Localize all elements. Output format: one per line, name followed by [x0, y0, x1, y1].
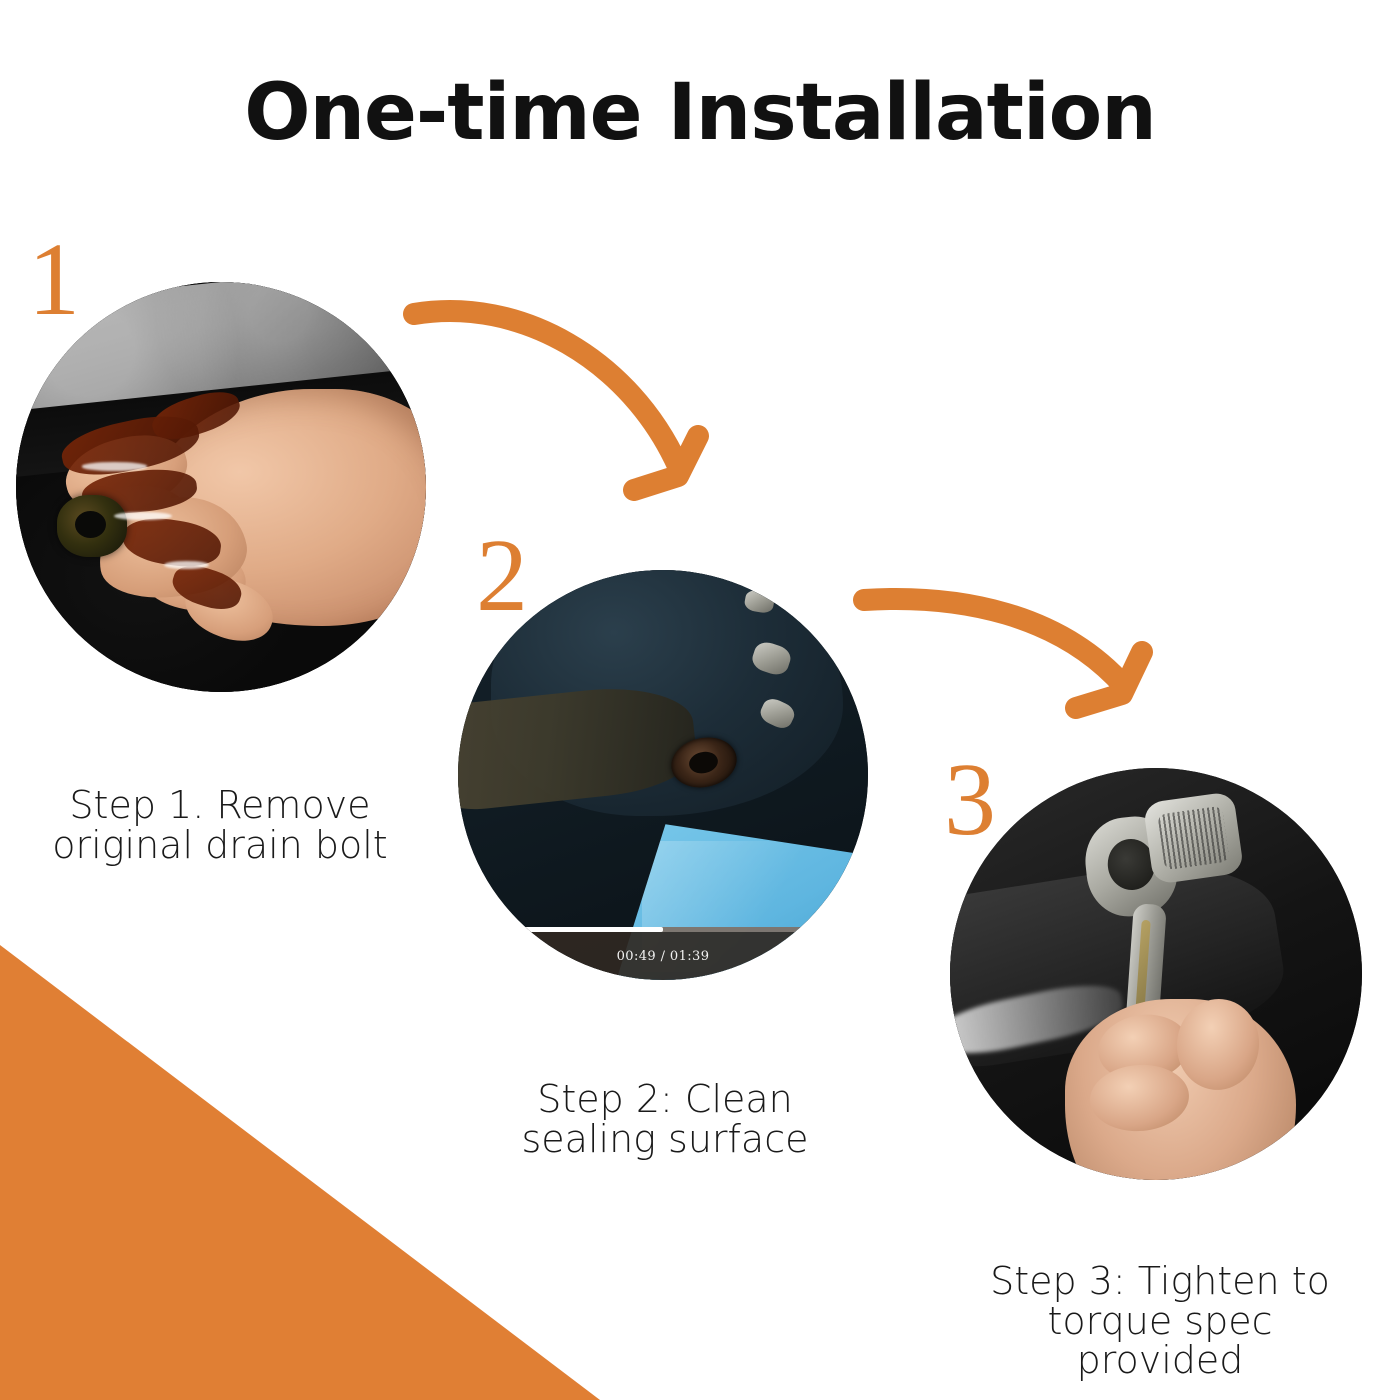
step-1-caption-line-2: original drain bolt	[0, 826, 440, 866]
step-3-caption-line-2: torque spec	[930, 1302, 1390, 1342]
knurled-socket	[1142, 791, 1243, 885]
step-2-number: 2	[476, 524, 528, 628]
step-1-caption-line-1: Step 1. Remove	[0, 786, 440, 826]
step-3-caption-line-3: provided	[930, 1341, 1390, 1381]
video-timestamp: 00:49 / 01:39	[617, 949, 710, 964]
step-3-caption: Step 3: Tighten to torque spec provided	[930, 1262, 1390, 1381]
arrow-step1-to-step2	[410, 290, 750, 530]
oil-highlight-1	[82, 462, 148, 470]
step-1-number: 1	[28, 228, 80, 332]
video-progress-track[interactable]	[483, 927, 844, 932]
step-3-image	[950, 768, 1362, 1180]
video-progress-fill	[483, 927, 663, 932]
oil-highlight-3	[164, 561, 209, 569]
step-1-image	[16, 282, 426, 692]
ratchet-wrench-photo	[950, 768, 1362, 1180]
step-2-caption-line-1: Step 2: Clean	[430, 1080, 900, 1120]
page-title: One-time Installation	[0, 68, 1400, 158]
infographic-page: One-time Installation 1	[0, 0, 1400, 1400]
step-2-caption: Step 2: Clean sealing surface	[430, 1080, 900, 1159]
step-3-caption-line-1: Step 3: Tighten to	[930, 1262, 1390, 1302]
step-3-number: 3	[944, 748, 996, 852]
drain-bolt	[57, 495, 127, 557]
corner-accent-triangle	[0, 945, 600, 1400]
oil-highlight-2	[114, 512, 171, 520]
step-1-caption: Step 1. Remove original drain bolt	[0, 786, 440, 865]
video-control-bar[interactable]: 00:49 / 01:39	[458, 927, 868, 980]
step-2-caption-line-2: sealing surface	[430, 1120, 900, 1160]
arrow-step2-to-step3	[860, 590, 1180, 720]
oily-hand-photo	[16, 282, 426, 692]
